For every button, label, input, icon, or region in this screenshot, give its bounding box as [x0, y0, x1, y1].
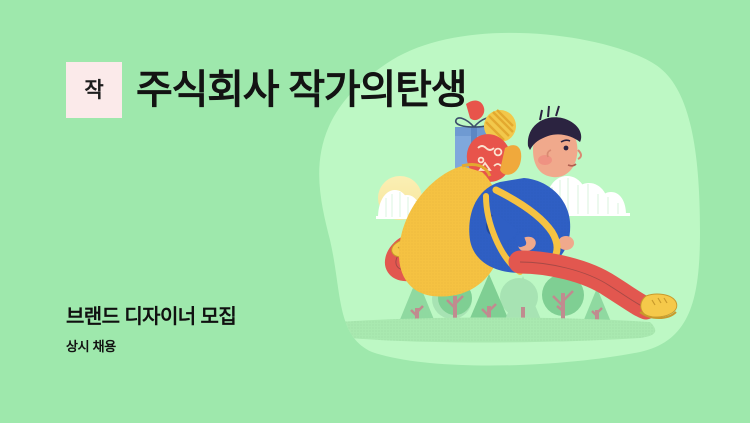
company-logo-mark: 작	[66, 62, 122, 118]
banner-content: 작 주식회사 작가의탄생 브랜드 디자이너 모집 상시 채용	[0, 0, 750, 423]
job-copy-block: 브랜드 디자이너 모집 상시 채용	[66, 305, 236, 355]
hiring-type: 상시 채용	[66, 339, 236, 355]
company-name: 주식회사 작가의탄생	[136, 70, 466, 110]
job-posting-banner: 작 주식회사 작가의탄생 브랜드 디자이너 모집 상시 채용	[0, 0, 750, 423]
brand-row: 작 주식회사 작가의탄생	[66, 62, 466, 118]
role-title: 브랜드 디자이너 모집	[66, 305, 236, 329]
